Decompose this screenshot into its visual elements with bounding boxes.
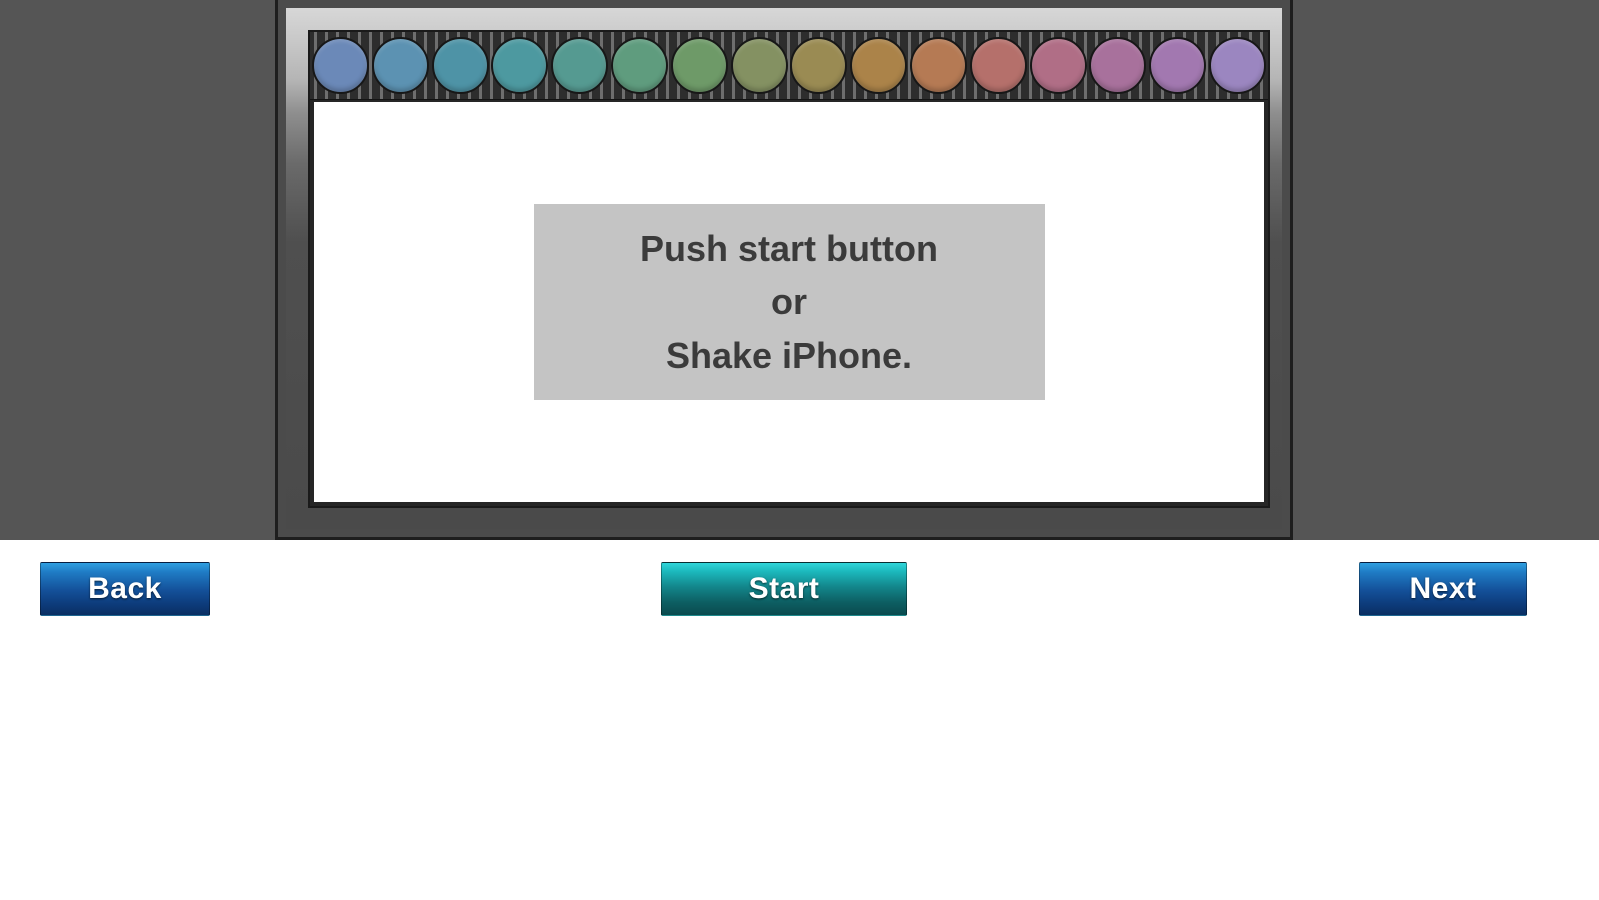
color-swatch-8[interactable] — [731, 37, 788, 94]
color-palette-rail — [310, 32, 1268, 100]
instruction-line-3: Shake iPhone. — [666, 329, 912, 382]
color-swatch-4[interactable] — [491, 37, 548, 94]
color-swatch-11[interactable] — [910, 37, 967, 94]
instruction-panel: Push start button or Shake iPhone. — [534, 204, 1045, 400]
device-bezel: Push start button or Shake iPhone. — [286, 8, 1282, 529]
color-swatch-5[interactable] — [551, 37, 608, 94]
back-button[interactable]: Back — [40, 562, 210, 616]
color-swatch-3[interactable] — [432, 37, 489, 94]
instruction-line-1: Push start button — [640, 222, 938, 275]
color-swatch-1[interactable] — [312, 37, 369, 94]
color-swatch-13[interactable] — [1030, 37, 1087, 94]
next-button[interactable]: Next — [1359, 562, 1527, 616]
color-swatch-9[interactable] — [790, 37, 847, 94]
color-swatch-10[interactable] — [850, 37, 907, 94]
color-swatch-15[interactable] — [1149, 37, 1206, 94]
device-frame: Push start button or Shake iPhone. — [275, 0, 1293, 540]
drawing-canvas[interactable]: Push start button or Shake iPhone. — [314, 102, 1264, 502]
button-bar: Back Start Next — [0, 540, 1599, 900]
color-swatch-14[interactable] — [1089, 37, 1146, 94]
color-swatch-6[interactable] — [611, 37, 668, 94]
color-swatch-12[interactable] — [970, 37, 1027, 94]
instruction-line-2: or — [771, 275, 807, 328]
start-button[interactable]: Start — [661, 562, 907, 616]
device-screen: Push start button or Shake iPhone. — [308, 30, 1270, 508]
color-swatch-2[interactable] — [372, 37, 429, 94]
color-swatch-7[interactable] — [671, 37, 728, 94]
stage-background: Push start button or Shake iPhone. — [0, 0, 1599, 540]
color-swatch-16[interactable] — [1209, 37, 1266, 94]
